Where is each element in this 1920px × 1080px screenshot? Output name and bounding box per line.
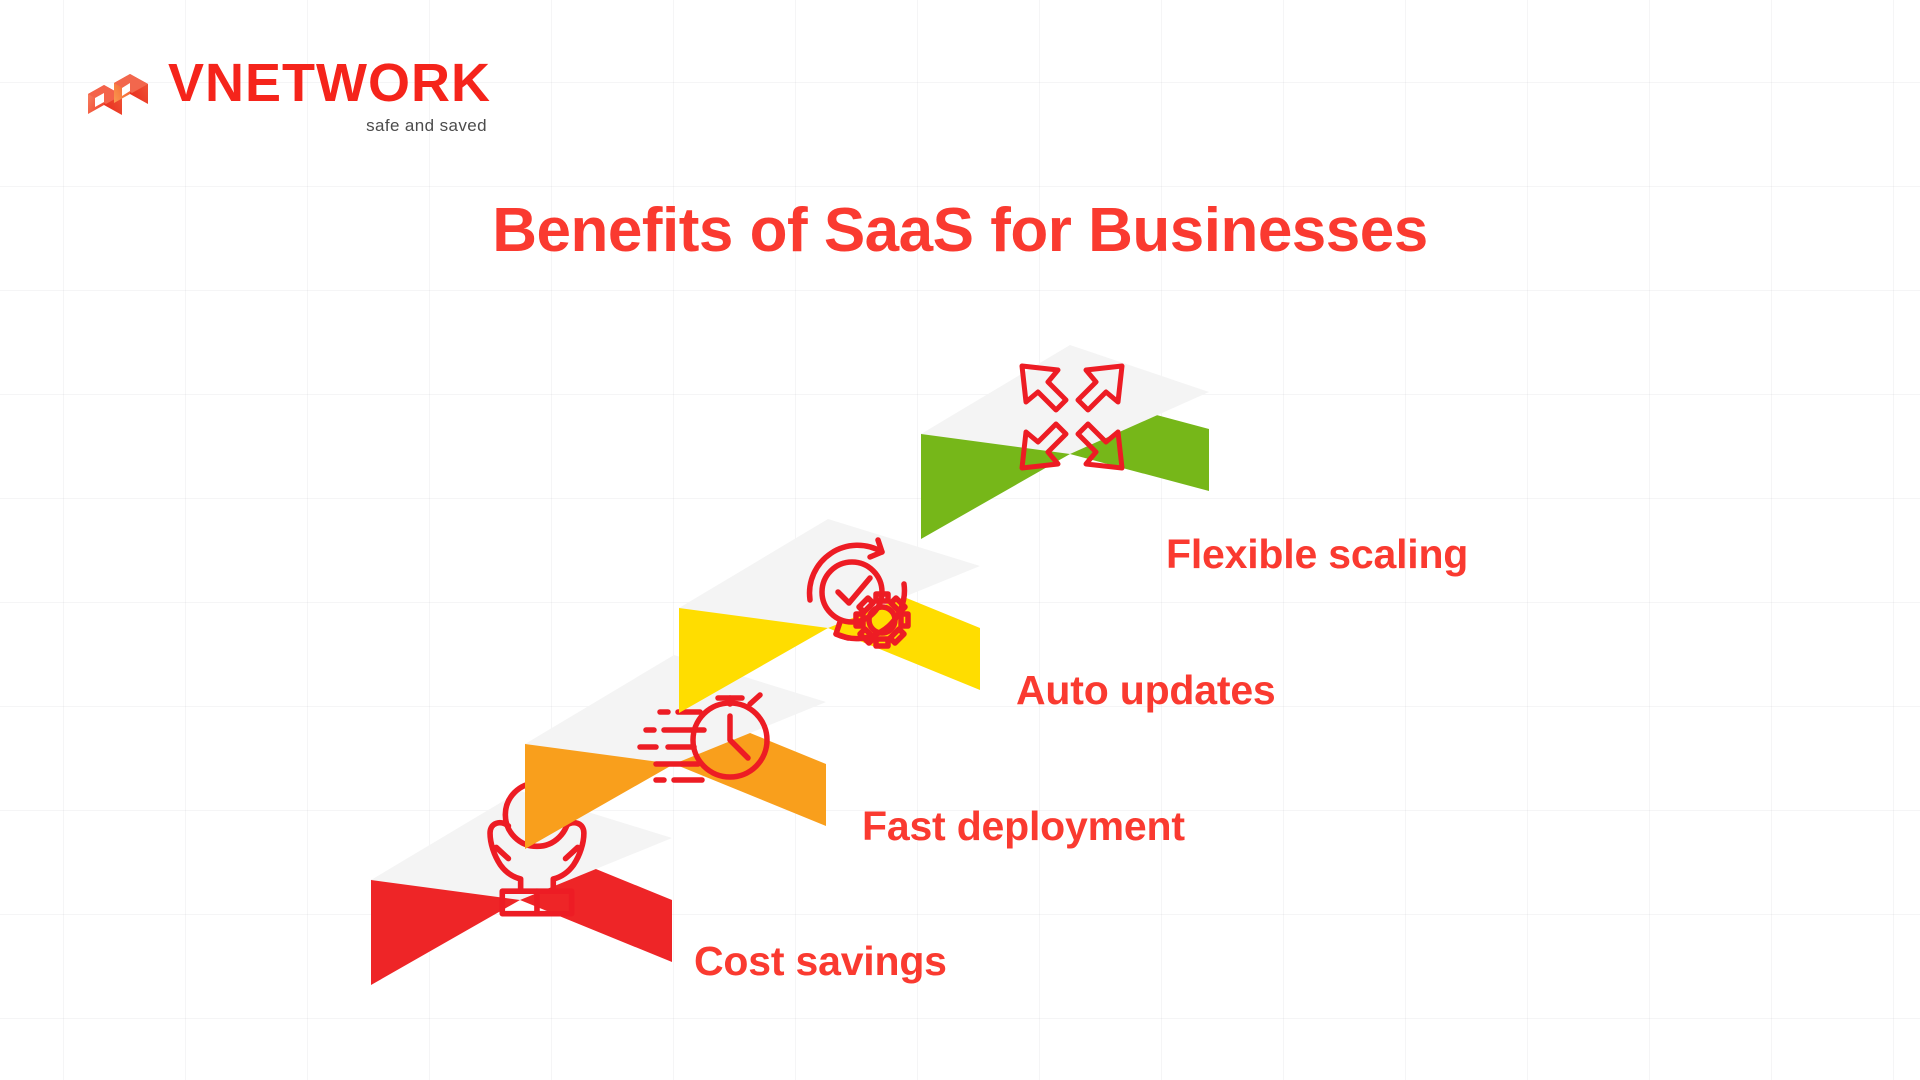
- step-3-auto-updates[interactable]: [679, 519, 980, 713]
- step-label-fast-deployment: Fast deployment: [862, 803, 1185, 850]
- step-1-cost-savings[interactable]: [371, 783, 672, 985]
- step-2-fast-deployment[interactable]: [525, 655, 826, 849]
- steps-infographic: [0, 0, 1920, 1080]
- step-4-flexible-scaling[interactable]: [921, 345, 1209, 539]
- steps-svg: [0, 0, 1920, 1080]
- step-label-flexible-scaling: Flexible scaling: [1166, 531, 1468, 578]
- step-label-auto-updates: Auto updates: [1016, 667, 1276, 714]
- step-label-cost-savings: Cost savings: [694, 938, 947, 985]
